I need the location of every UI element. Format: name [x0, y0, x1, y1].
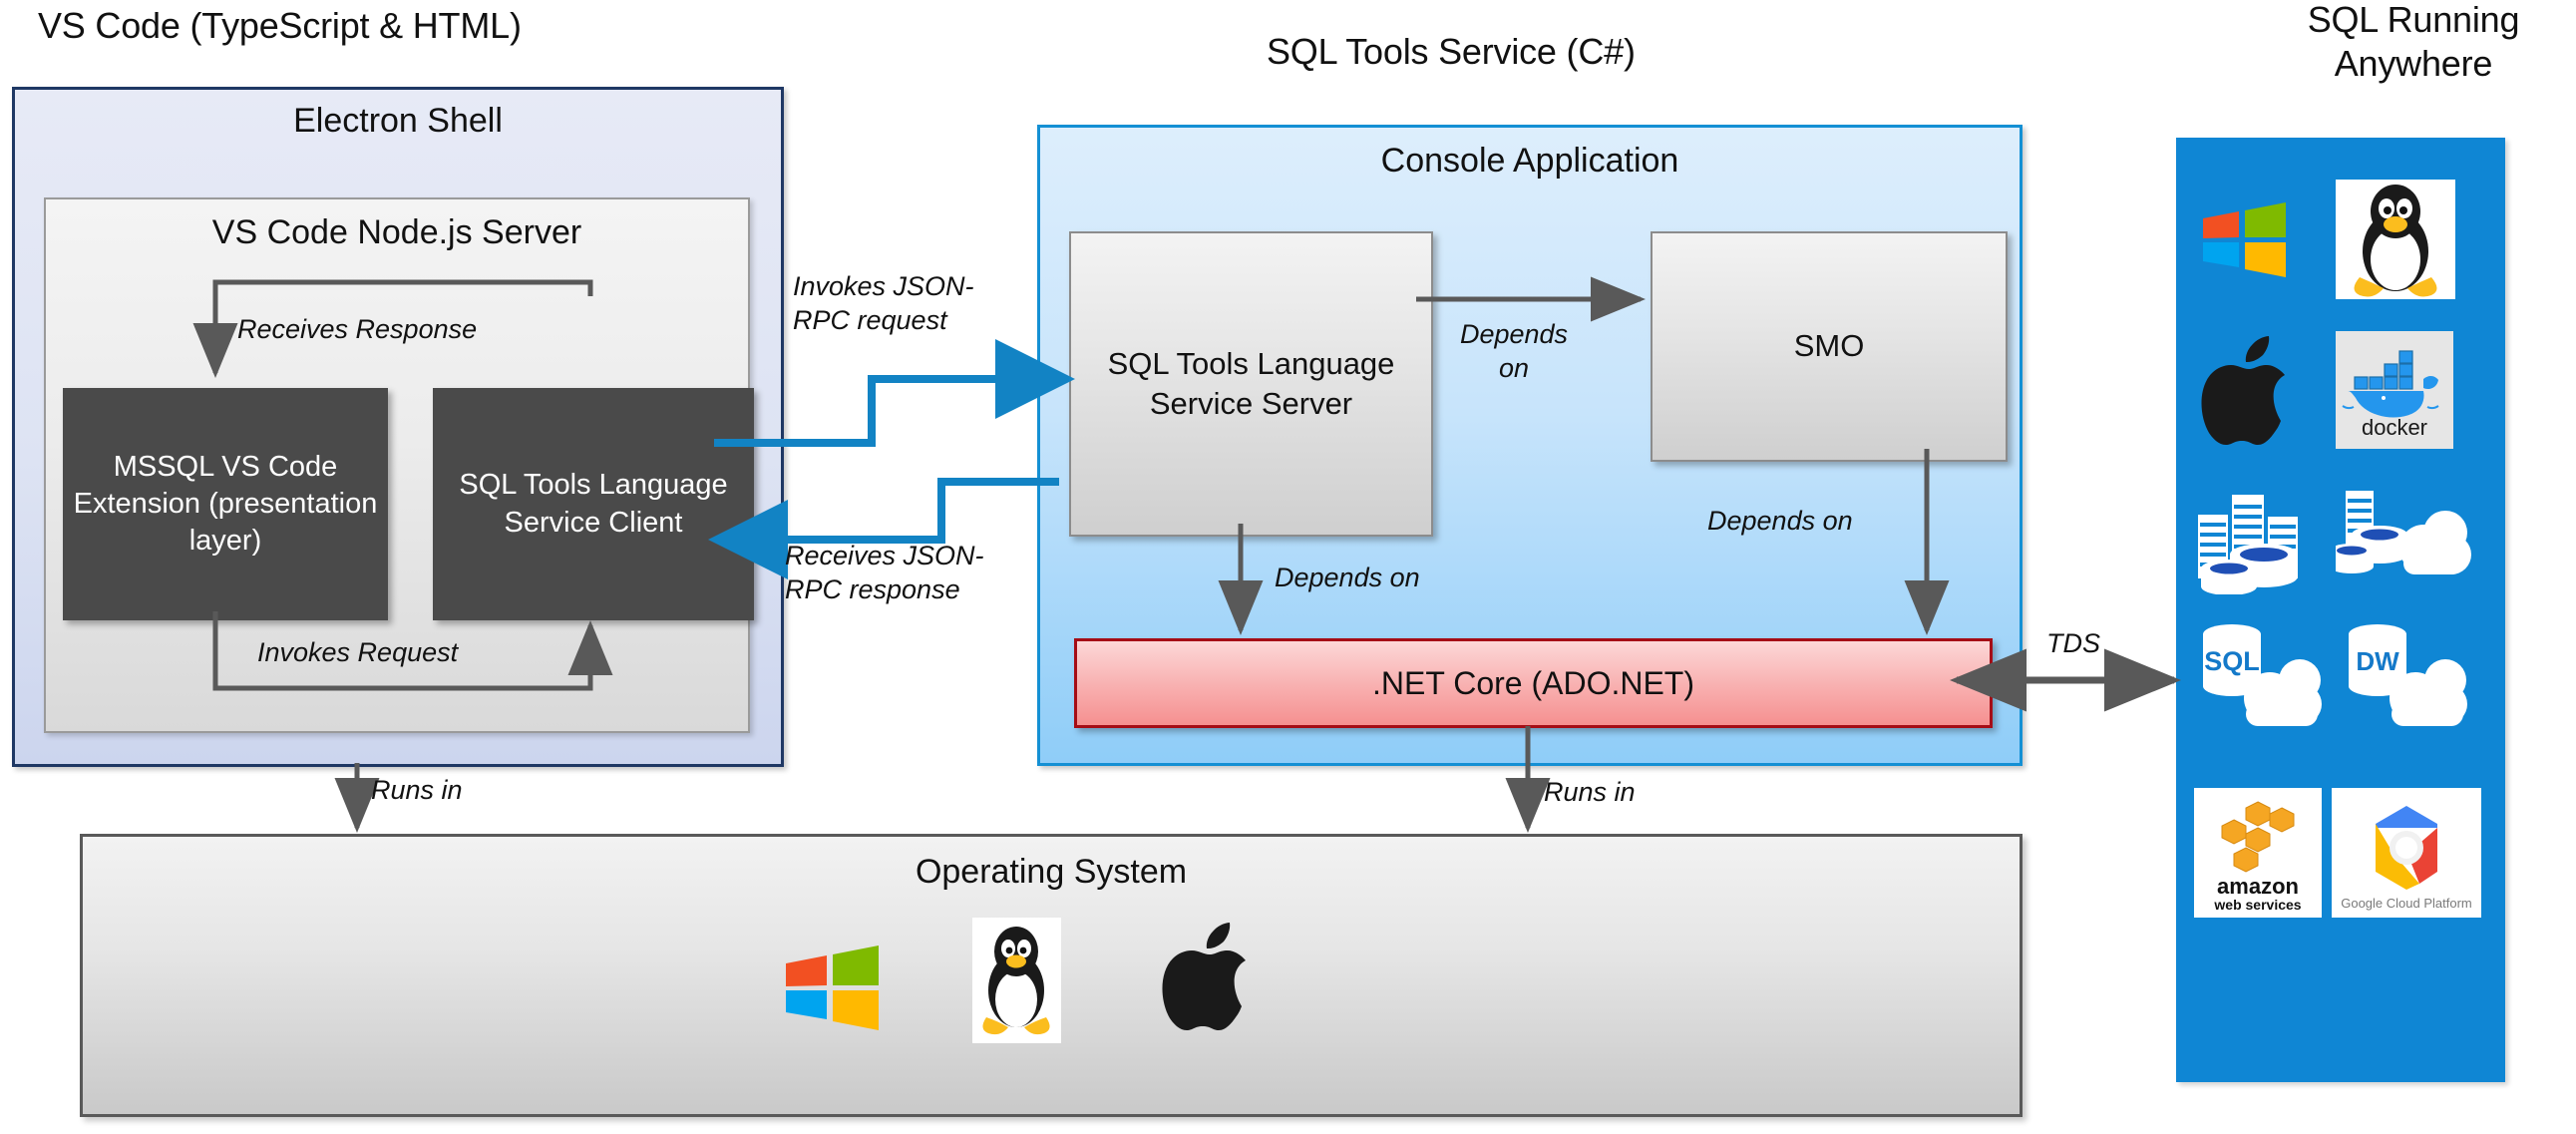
- edge-label-invokes-json-rpc-request-line1: Invokes JSON-: [793, 269, 1022, 303]
- gcp-wordmark: Google Cloud Platform: [2341, 896, 2472, 911]
- aws-wordmark-line1: amazon: [2217, 874, 2299, 899]
- edge-label-invokes-request: Invokes Request: [257, 635, 458, 669]
- apple-logo: [2198, 333, 2300, 457]
- edge-label-runs-in-right: Runs in: [1544, 775, 1636, 809]
- docker-logo: docker: [2336, 331, 2453, 449]
- private-cloud-icon: [2336, 485, 2473, 596]
- caption-sql-running-anywhere-line1: SQL Running: [2249, 0, 2576, 42]
- edge-label-receives-json-rpc-response-line2: RPC response: [785, 572, 1024, 606]
- caption-sql-running-anywhere: SQL Running Anywhere: [2249, 0, 2576, 86]
- caption-sql-running-anywhere-line2: Anywhere: [2249, 42, 2576, 86]
- mssql-vs-code-extension-label: MSSQL VS Code Extension (presentation la…: [71, 449, 380, 560]
- sql-tools-language-service-server-label: SQL Tools Language Service Server: [1079, 344, 1423, 425]
- edge-label-tds: TDS: [2046, 626, 2100, 660]
- edge-label-depends-on-server-dotnet: Depends on: [1275, 561, 1420, 594]
- electron-shell-title: Electron Shell: [15, 102, 781, 141]
- sql-tools-language-service-client-node[interactable]: SQL Tools Language Service Client: [433, 388, 754, 620]
- azure-sql-data-warehouse-label: DW: [2356, 646, 2399, 676]
- azure-sql-database-icon: SQL: [2188, 618, 2334, 736]
- smo-node[interactable]: SMO: [1651, 231, 2008, 462]
- windows-logo: [2198, 195, 2290, 283]
- edge-label-depends-on-smo-line2: on: [1434, 351, 1594, 385]
- aws-wordmark-line2: web services: [2213, 897, 2301, 913]
- edge-label-depends-on-smo-dotnet: Depends on: [1707, 504, 1853, 538]
- edge-label-depends-on-smo-line1: Depends: [1434, 317, 1594, 351]
- azure-sql-data-warehouse-icon: DW: [2334, 618, 2479, 736]
- linux-tux-logo: [2336, 180, 2455, 299]
- google-cloud-platform-logo: Google Cloud Platform: [2332, 788, 2481, 918]
- edge-label-receives-json-rpc-response-line1: Receives JSON-: [785, 539, 1024, 572]
- edge-label-invokes-json-rpc-request-line2: RPC request: [793, 303, 1022, 337]
- edge-label-depends-on-smo: Depends on: [1434, 317, 1594, 385]
- caption-vs-code: VS Code (TypeScript & HTML): [38, 4, 522, 48]
- operating-system-title: Operating System: [83, 853, 2020, 892]
- mssql-vs-code-extension-node[interactable]: MSSQL VS Code Extension (presentation la…: [63, 388, 388, 620]
- nodejs-server-title: VS Code Node.js Server: [46, 213, 748, 252]
- console-application-title: Console Application: [1040, 142, 2020, 181]
- edge-label-runs-in-left: Runs in: [371, 773, 463, 807]
- apple-logo: [1162, 920, 1260, 1041]
- windows-logo: [780, 938, 884, 1037]
- docker-logo-wordmark: docker: [2362, 415, 2427, 440]
- azure-sql-database-label: SQL: [2204, 646, 2260, 676]
- dotnet-core-node[interactable]: .NET Core (ADO.NET): [1074, 638, 1993, 728]
- on-premises-datacenter-icon: [2192, 483, 2320, 594]
- sql-tools-language-service-client-label: SQL Tools Language Service Client: [441, 467, 746, 541]
- edge-label-invokes-json-rpc-request: Invokes JSON- RPC request: [793, 269, 1022, 337]
- smo-label: SMO: [1794, 326, 1865, 366]
- sql-running-anywhere-panel: docker: [2176, 138, 2505, 1082]
- architecture-diagram: VS Code (TypeScript & HTML) SQL Tools Se…: [0, 0, 2576, 1134]
- caption-sql-tools-service: SQL Tools Service (C#): [1267, 30, 1636, 74]
- dotnet-core-label: .NET Core (ADO.NET): [1372, 665, 1694, 702]
- linux-tux-logo: [972, 918, 1061, 1043]
- edge-label-receives-response: Receives Response: [237, 312, 477, 346]
- sql-tools-language-service-server-node[interactable]: SQL Tools Language Service Server: [1069, 231, 1433, 537]
- amazon-web-services-logo: amazon web services: [2194, 788, 2322, 918]
- edge-label-receives-json-rpc-response: Receives JSON- RPC response: [785, 539, 1024, 606]
